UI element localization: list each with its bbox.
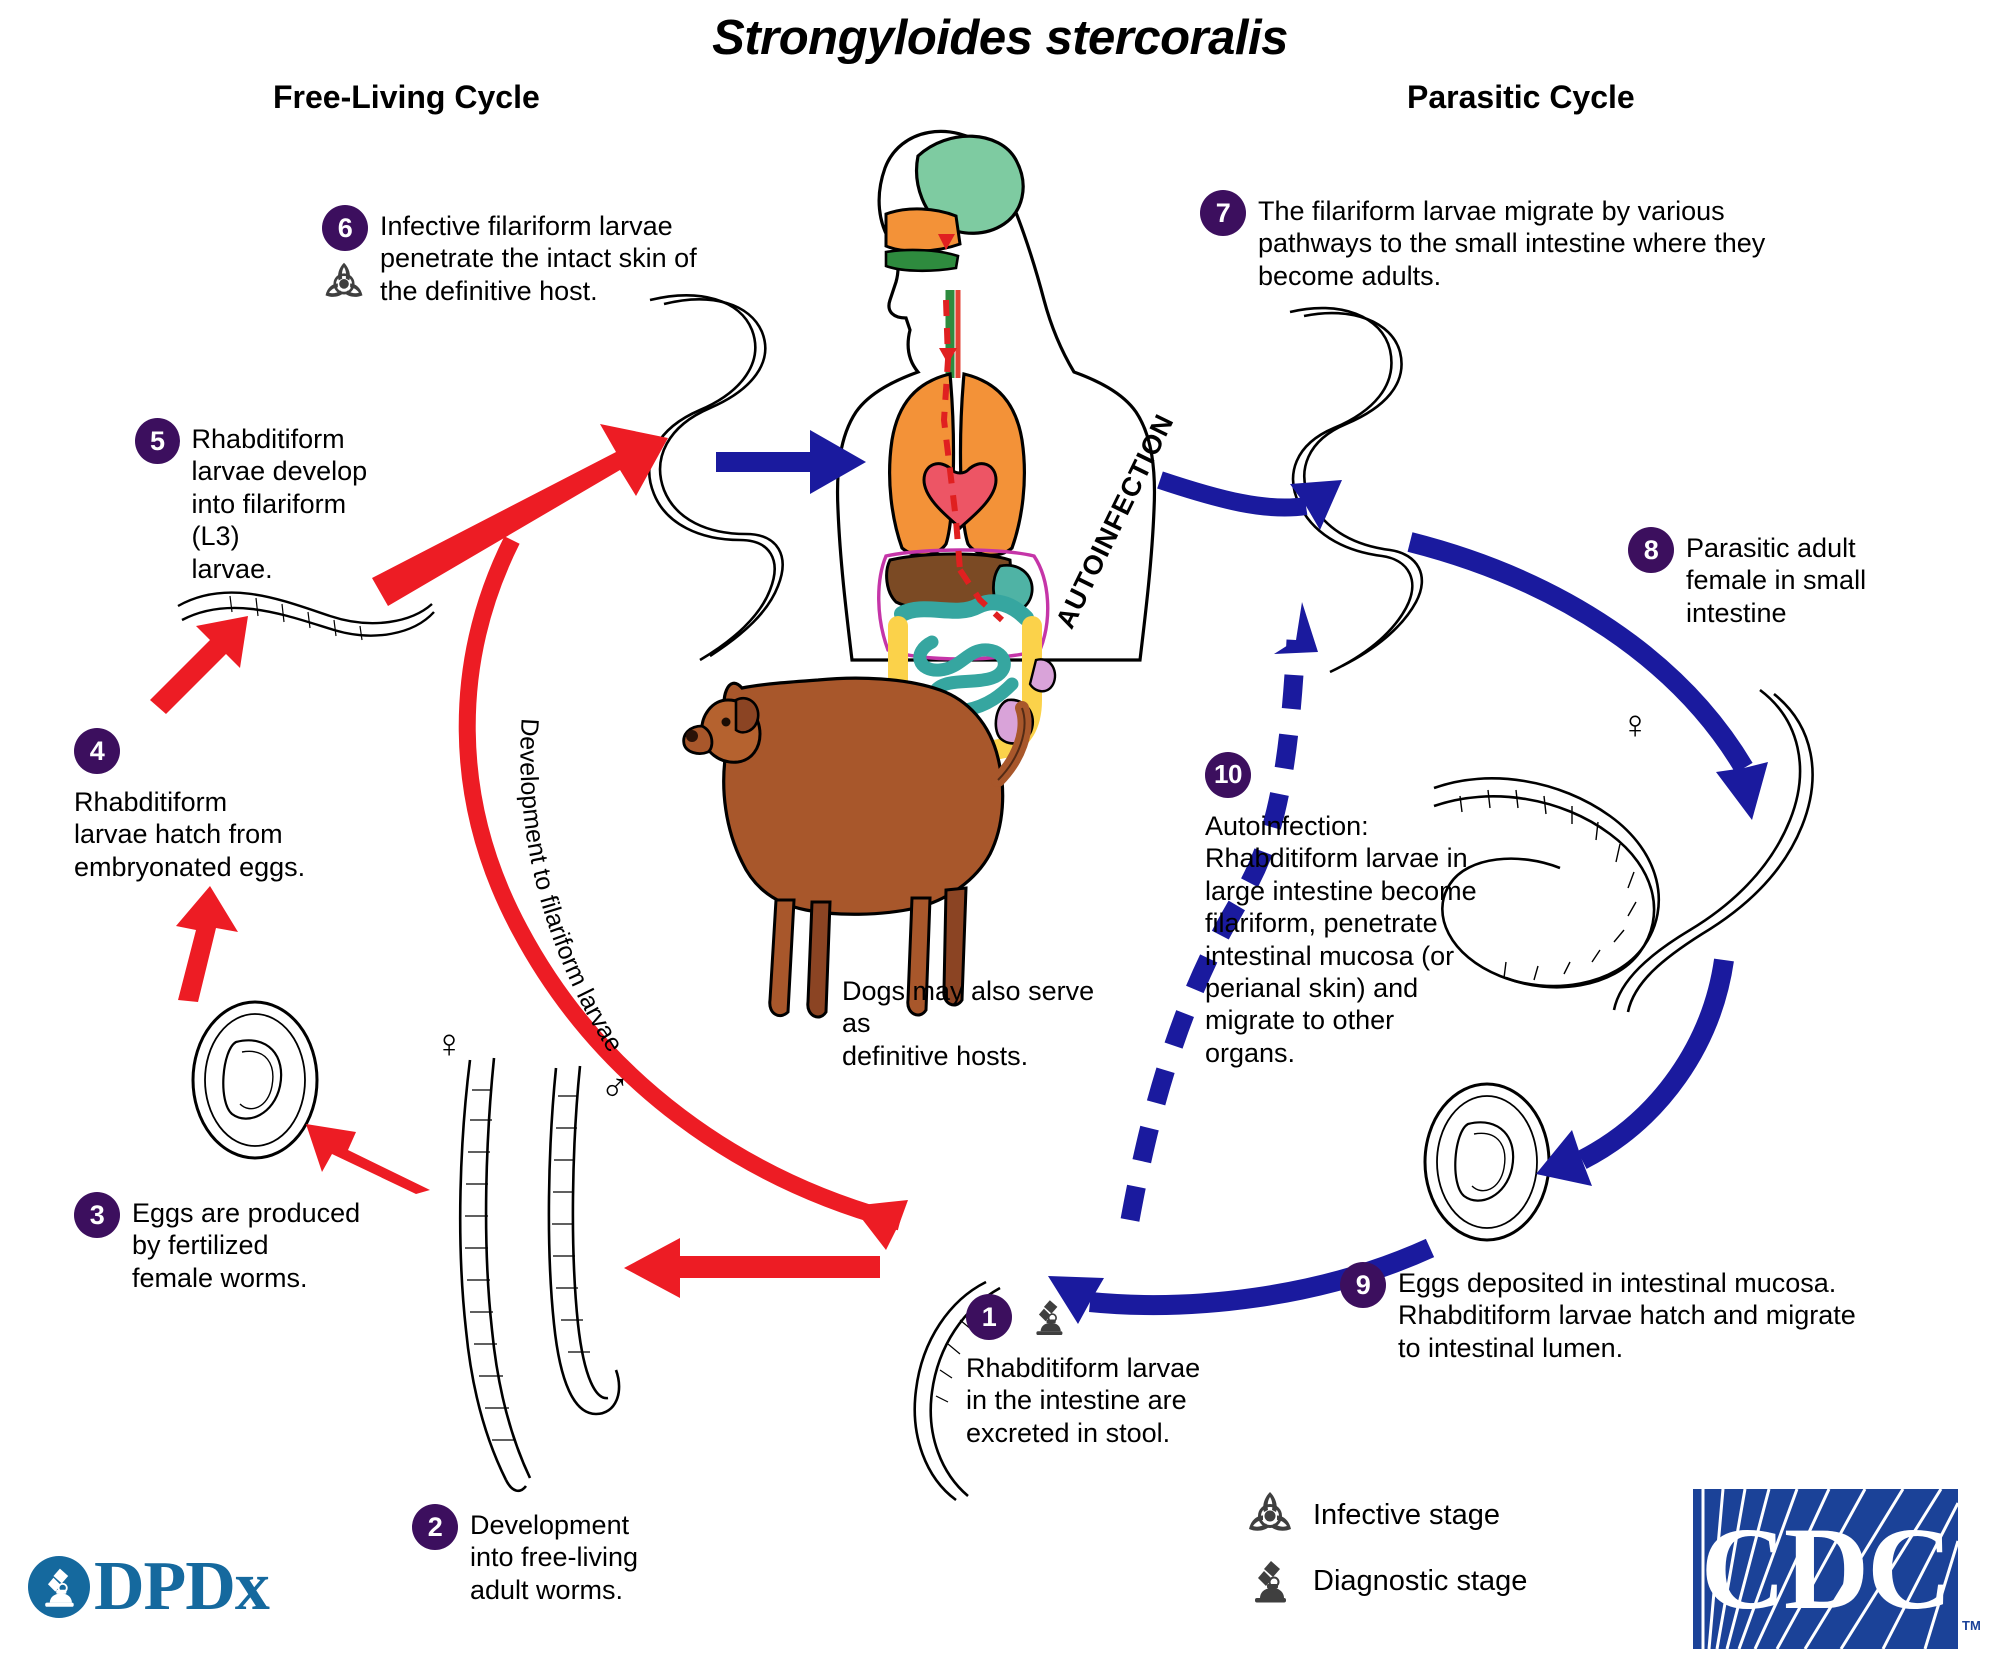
svg-text:Development to filariform larv: Development to filariform larvae bbox=[514, 718, 628, 1057]
legend-row-infective: Infective stage bbox=[1245, 1490, 1527, 1540]
microscope-icon bbox=[1245, 1556, 1295, 1606]
cdc-logo-text: CDC bbox=[1693, 1489, 1958, 1649]
development-arc-text: Development to filariform larvae bbox=[514, 718, 628, 1057]
dpdx-logo: DPDx bbox=[28, 1552, 269, 1622]
legend: Infective stage Diagnostic stage bbox=[1245, 1490, 1527, 1622]
dog-caption: Dogs may also serve as definitive hosts. bbox=[842, 975, 1102, 1072]
microscope-icon bbox=[28, 1556, 90, 1618]
cdc-logo-tm: TM bbox=[1962, 1618, 1981, 1633]
development-arc-label: Development to filariform larvae bbox=[0, 0, 2000, 1676]
legend-label-infective: Infective stage bbox=[1313, 1499, 1500, 1532]
legend-label-diagnostic: Diagnostic stage bbox=[1313, 1565, 1527, 1598]
cdc-logo: CDC bbox=[1693, 1489, 1958, 1649]
biohazard-icon bbox=[1245, 1490, 1295, 1540]
female-symbol-free-living: ♀ bbox=[434, 1024, 464, 1064]
dpdx-logo-text: DPDx bbox=[94, 1552, 269, 1622]
male-symbol-free-living: ♂ bbox=[600, 1068, 630, 1108]
legend-row-diagnostic: Diagnostic stage bbox=[1245, 1556, 1527, 1606]
female-symbol-parasitic: ♀ bbox=[1620, 705, 1650, 745]
